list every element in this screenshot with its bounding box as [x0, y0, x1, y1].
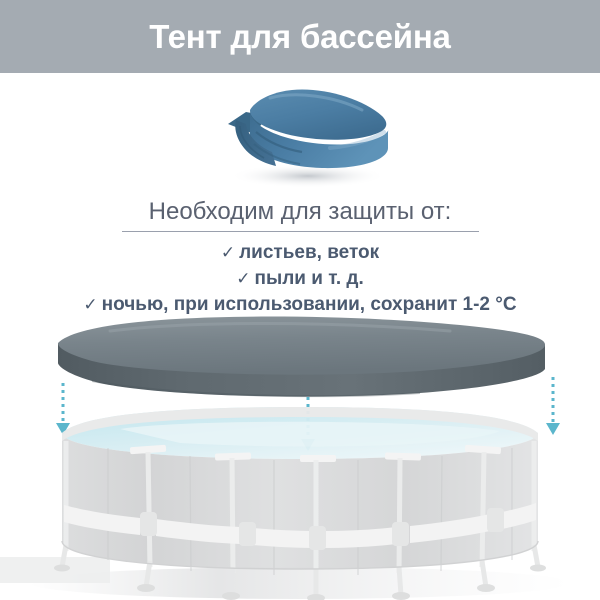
list-item: ✓пыли и т. д. — [0, 266, 600, 292]
drop-arrow-left — [56, 383, 70, 435]
page-title: Тент для бассейна — [0, 0, 600, 73]
heading-divider — [122, 231, 479, 232]
pool-cover-disc — [58, 317, 545, 397]
check-icon: ✓ — [221, 243, 235, 262]
benefit-text: пыли и т. д. — [255, 268, 364, 289]
section-heading: Необходим для защиты от: — [0, 198, 600, 226]
list-item: ✓листьев, веток — [0, 240, 600, 266]
product-infographic-page: Тент для бассейна — [0, 0, 600, 600]
benefit-text: листьев, веток — [239, 242, 379, 263]
arrow-head — [546, 423, 560, 435]
pool-cast-shadow — [0, 557, 110, 583]
product-photo-folded-cover — [210, 76, 400, 188]
check-icon: ✓ — [236, 269, 250, 288]
drop-arrow-right — [546, 377, 560, 435]
product-shadow — [230, 164, 386, 188]
pool-cover-diagram — [0, 305, 600, 600]
pool-ground-shadow — [30, 567, 570, 599]
